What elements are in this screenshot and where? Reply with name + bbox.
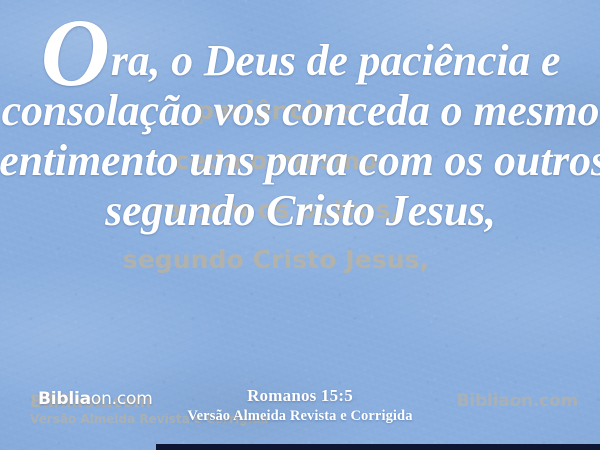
ghost-verse-text: paciência e ceda o mesmo ra com os outro…	[66, 86, 486, 284]
brand-logo-bold: Biblia	[38, 389, 91, 409]
brand-logo-light: on.com	[91, 389, 153, 409]
bottom-accent-strip	[156, 444, 600, 450]
verse-text-container: Ora, o Deus de paciência e consolação vo…	[0, 36, 600, 236]
version-watermark-left-ghost: Versão Almeida Revista e Corrigida	[30, 412, 269, 426]
brand-logo[interactable]: Bibliaon.com	[38, 389, 153, 409]
verse-first-word-rest: ra,	[111, 36, 161, 85]
verse-text: Ora, o Deus de paciência e consolação vo…	[0, 36, 600, 236]
brand-watermark-right-ghost: Bibliaon.com	[457, 391, 578, 411]
verse-body: o Deus de paciência e consolação vos con…	[0, 36, 600, 235]
verse-dropcap: O	[41, 0, 111, 106]
verse-image-canvas: paciência e ceda o mesmo ra com os outro…	[0, 0, 600, 450]
